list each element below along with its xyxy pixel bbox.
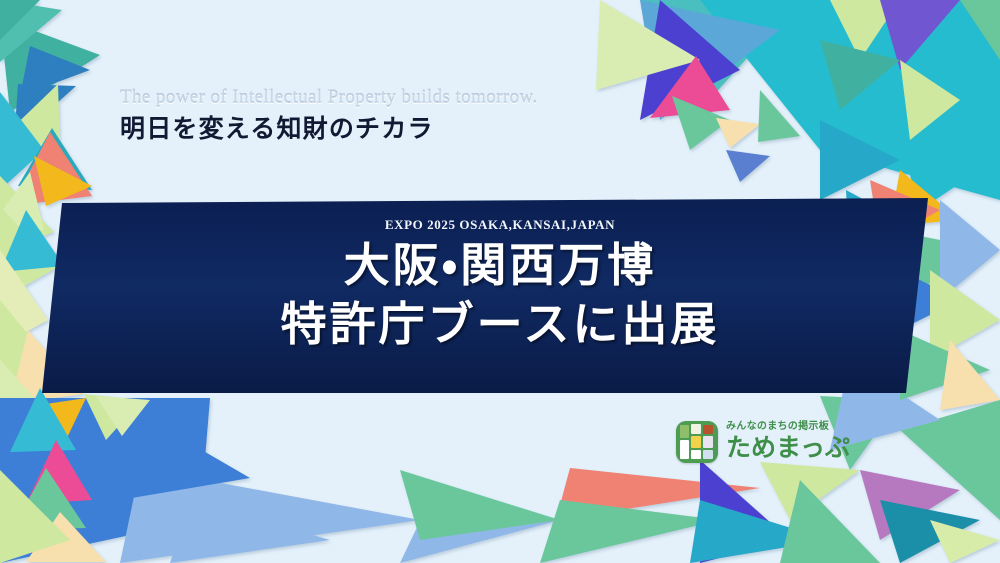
logo-tile-7: [703, 450, 713, 459]
expo-kicker: EXPO 2025 OSAKA,KANSAI,JAPAN: [385, 217, 615, 233]
logo-text-block: みんなのまちの掲示板 ためまっぷ: [726, 422, 850, 461]
banner-headline-block: EXPO 2025 OSAKA,KANSAI,JAPAN 大阪・関西万博 特許庁…: [0, 203, 1000, 393]
logo-name: ためまっぷ: [726, 435, 850, 461]
headline: 大阪・関西万博 特許庁ブースに出展: [281, 237, 720, 352]
decor-triangle-53: [726, 150, 770, 182]
logo-tile-4: [691, 436, 701, 448]
tagline-english: The power of Intellectual Property build…: [120, 88, 740, 109]
bulletin-board-grid-icon: [676, 421, 718, 463]
tamemap-logo[interactable]: みんなのまちの掲示板 ためまっぷ: [676, 421, 850, 463]
logo-tile-0: [680, 425, 689, 438]
headline-line-1: 大阪・関西万博: [281, 237, 720, 294]
logo-tile-3: [680, 440, 689, 459]
logo-tagline: みんなのまちの掲示板: [726, 422, 850, 432]
decor-triangle-31: [400, 470, 560, 540]
logo-tile-5: [703, 436, 713, 448]
tagline-japanese: 明日を変える知財のチカラ: [120, 114, 740, 145]
headline-line-2: 特許庁ブースに出展: [281, 296, 720, 353]
logo-tile-2: [703, 425, 713, 434]
logo-tile-6: [691, 450, 701, 459]
tagline-block: The power of Intellectual Property build…: [120, 88, 740, 145]
poster-canvas: The power of Intellectual Property build…: [0, 0, 1000, 563]
logo-tile-1: [691, 424, 701, 434]
